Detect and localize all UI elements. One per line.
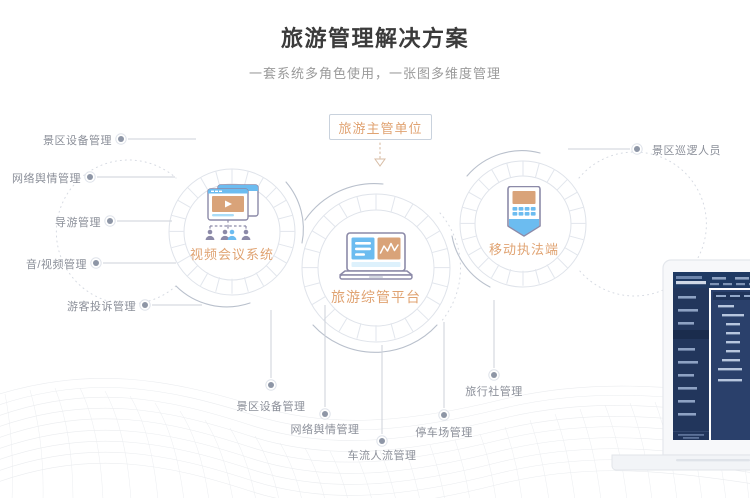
left-connectors	[97, 139, 202, 305]
right-connector-dots	[632, 144, 642, 154]
authority-badge[interactable]: 旅游主管单位	[329, 114, 432, 140]
badge-connector	[375, 143, 385, 166]
page-subtitle: 一套系统多角色使用，一张图多维度管理	[0, 64, 750, 84]
node-label-tourism-platform: 旅游综管平台	[316, 287, 436, 307]
page-title: 旅游管理解决方案	[0, 24, 750, 54]
header-block: 旅游管理解决方案 一套系统多角色使用，一张图多维度管理	[0, 24, 750, 84]
bottom-item-1[interactable]: 网络舆情管理	[265, 421, 385, 437]
bottom-item-2[interactable]: 车流人流管理	[322, 447, 442, 463]
handheld-terminal-icon	[503, 186, 545, 242]
ring-video-conference	[56, 160, 303, 307]
left-item-4[interactable]: 游客投诉管理	[0, 298, 136, 314]
left-item-0[interactable]: 景区设备管理	[0, 132, 112, 148]
bottom-item-4[interactable]: 旅行社管理	[434, 383, 554, 399]
node-label-video-conference: 视频会议系统	[172, 244, 292, 263]
ring-mobile-enforcement	[452, 151, 706, 296]
bottom-item-3[interactable]: 停车场管理	[384, 424, 504, 440]
right-item-0[interactable]: 景区巡逻人员	[652, 142, 750, 158]
infographic-canvas: 旅游管理解决方案 一套系统多角色使用，一张图多维度管理	[0, 0, 750, 498]
bottom-item-0[interactable]: 景区设备管理	[211, 398, 331, 414]
left-item-1[interactable]: 网络舆情管理	[0, 170, 81, 186]
video-window-icon	[200, 180, 264, 242]
node-label-mobile-enforcement: 移动执法端	[470, 239, 578, 258]
left-item-3[interactable]: 音/视频管理	[0, 256, 87, 272]
left-item-2[interactable]: 导游管理	[0, 214, 101, 230]
laptop-dashboard-icon	[338, 231, 414, 283]
